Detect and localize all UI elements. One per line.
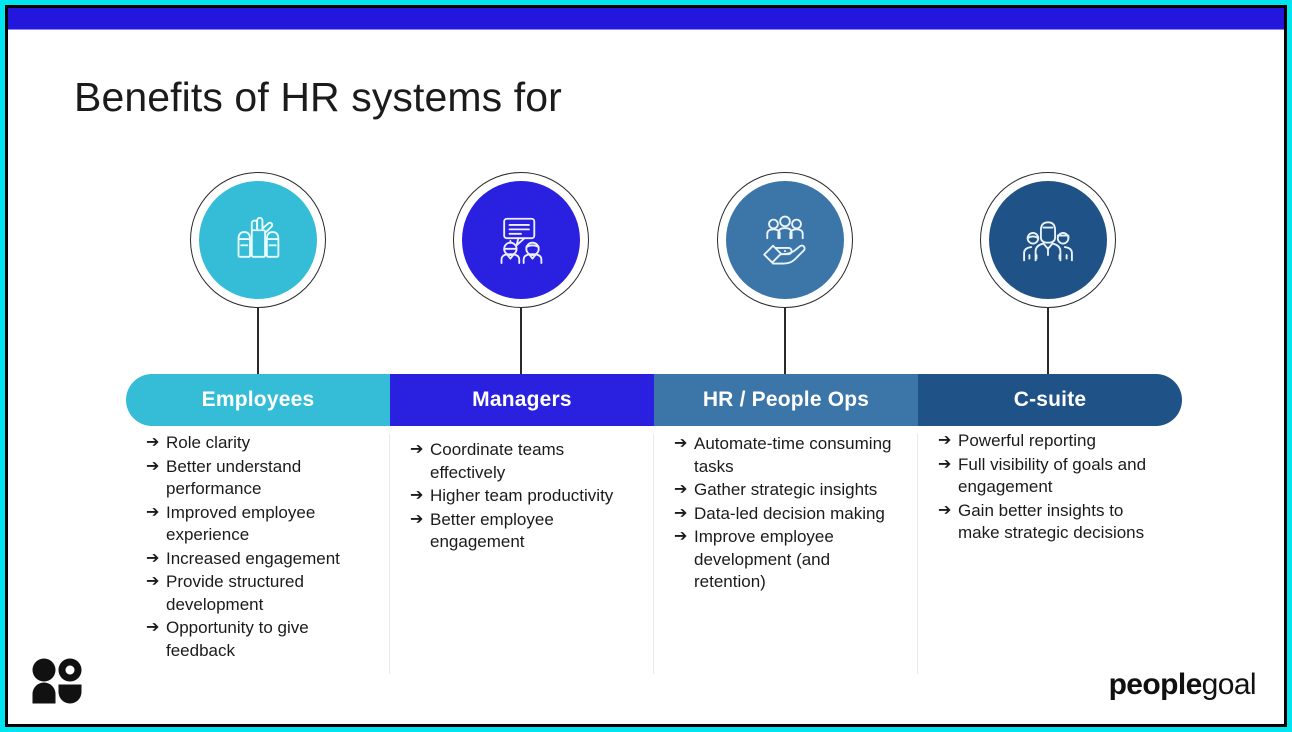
- arrow-bullet-icon: ➔: [390, 485, 430, 508]
- arrow-bullet-icon: ➔: [918, 454, 958, 477]
- icon-node-c-suite: [980, 172, 1116, 308]
- arrow-bullet-icon: ➔: [654, 479, 694, 502]
- slide-canvas: Benefits of HR systems for: [8, 30, 1284, 724]
- category-header-c-suite[interactable]: C-suite: [918, 374, 1182, 426]
- benefit-text: Full visibility of goals and engagement: [958, 454, 1162, 499]
- benefit-item: ➔Automate-time consuming tasks: [654, 433, 918, 478]
- benefit-columns: ➔Role clarity➔Better understand performa…: [126, 430, 1182, 682]
- category-header-employees[interactable]: Employees: [126, 374, 390, 426]
- category-header-hr-people-ops[interactable]: HR / People Ops: [654, 374, 918, 426]
- arrow-bullet-icon: ➔: [918, 430, 958, 453]
- arrow-bullet-icon: ➔: [654, 433, 694, 456]
- benefit-list-hr-people-ops: ➔Automate-time consuming tasks➔Gather st…: [654, 430, 918, 682]
- benefit-item: ➔Gain better insights to make strategic …: [918, 500, 1182, 545]
- benefit-text: Powerful reporting: [958, 430, 1096, 453]
- benefit-text: Role clarity: [166, 432, 250, 455]
- peoplegoal-logo-mark-icon: [32, 658, 82, 704]
- benefit-text: Data-led decision making: [694, 503, 885, 526]
- raised-hands-icon: [199, 181, 317, 299]
- benefit-list-c-suite: ➔Powerful reporting➔Full visibility of g…: [918, 430, 1182, 682]
- arrow-bullet-icon: ➔: [126, 548, 166, 571]
- arrow-bullet-icon: ➔: [126, 432, 166, 455]
- icon-node-hr-people-ops: [717, 172, 853, 308]
- benefit-item: ➔Better understand performance: [126, 456, 390, 501]
- connector-line-hr-people-ops: [784, 308, 786, 374]
- benefit-text: Higher team productivity: [430, 485, 613, 508]
- category-bar: EmployeesManagersHR / People OpsC-suite: [126, 374, 1182, 426]
- brand-word-light: goal: [1202, 668, 1256, 701]
- arrow-bullet-icon: ➔: [126, 571, 166, 594]
- benefit-item: ➔Gather strategic insights: [654, 479, 918, 502]
- benefit-item: ➔Provide structured development: [126, 571, 390, 616]
- category-label: Employees: [202, 388, 315, 412]
- category-header-managers[interactable]: Managers: [390, 374, 654, 426]
- page-title: Benefits of HR systems for: [74, 74, 562, 121]
- benefit-list-employees: ➔Role clarity➔Better understand performa…: [126, 430, 390, 682]
- benefit-item: ➔Powerful reporting: [918, 430, 1182, 453]
- category-label: Managers: [472, 388, 572, 412]
- benefit-item: ➔Full visibility of goals and engagement: [918, 454, 1182, 499]
- arrow-bullet-icon: ➔: [918, 500, 958, 523]
- benefit-item: ➔Increased engagement: [126, 548, 390, 571]
- benefit-item: ➔Improve employee development (and reten…: [654, 526, 918, 594]
- benefit-item: ➔Data-led decision making: [654, 503, 918, 526]
- people-speech-bubble-icon: [462, 181, 580, 299]
- arrow-bullet-icon: ➔: [126, 456, 166, 479]
- benefit-text: Improve employee development (and retent…: [694, 526, 898, 594]
- benefit-list-managers: ➔Coordinate teams effectively➔Higher tea…: [390, 430, 654, 682]
- arrow-bullet-icon: ➔: [654, 503, 694, 526]
- benefit-text: Coordinate teams effectively: [430, 439, 634, 484]
- brand-wordmark: peoplegoal: [1109, 668, 1256, 702]
- arrow-bullet-icon: ➔: [126, 502, 166, 525]
- benefit-item: ➔Coordinate teams effectively: [390, 439, 654, 484]
- category-label: C-suite: [1014, 388, 1087, 412]
- benefit-text: Better understand performance: [166, 456, 370, 501]
- benefit-text: Better employee engagement: [430, 509, 634, 554]
- connector-line-employees: [257, 308, 259, 374]
- icon-node-managers: [453, 172, 589, 308]
- benefit-text: Gather strategic insights: [694, 479, 877, 502]
- benefit-text: Gain better insights to make strategic d…: [958, 500, 1162, 545]
- benefit-item: ➔Role clarity: [126, 432, 390, 455]
- connector-line-c-suite: [1047, 308, 1049, 374]
- arrow-bullet-icon: ➔: [390, 509, 430, 532]
- benefit-item: ➔Better employee engagement: [390, 509, 654, 554]
- icon-node-employees: [190, 172, 326, 308]
- connector-line-managers: [520, 308, 522, 374]
- brand-word-bold: people: [1109, 668, 1202, 701]
- hand-holding-people-icon: [726, 181, 844, 299]
- benefit-item: ➔Improved employee experience: [126, 502, 390, 547]
- benefit-text: Provide structured development: [166, 571, 370, 616]
- benefit-text: Increased engagement: [166, 548, 340, 571]
- benefit-item: ➔Opportunity to give feedback: [126, 617, 390, 662]
- benefit-text: Automate-time consuming tasks: [694, 433, 898, 478]
- arrow-bullet-icon: ➔: [654, 526, 694, 549]
- executive-team-icon: [989, 181, 1107, 299]
- category-label: HR / People Ops: [703, 388, 869, 412]
- arrow-bullet-icon: ➔: [390, 439, 430, 462]
- benefit-text: Improved employee experience: [166, 502, 370, 547]
- arrow-bullet-icon: ➔: [126, 617, 166, 640]
- slide-inner-border: Benefits of HR systems for: [5, 5, 1287, 727]
- slide-frame: Benefits of HR systems for: [0, 0, 1292, 732]
- top-accent-bar: [8, 8, 1284, 30]
- benefit-item: ➔Higher team productivity: [390, 485, 654, 508]
- benefit-text: Opportunity to give feedback: [166, 617, 370, 662]
